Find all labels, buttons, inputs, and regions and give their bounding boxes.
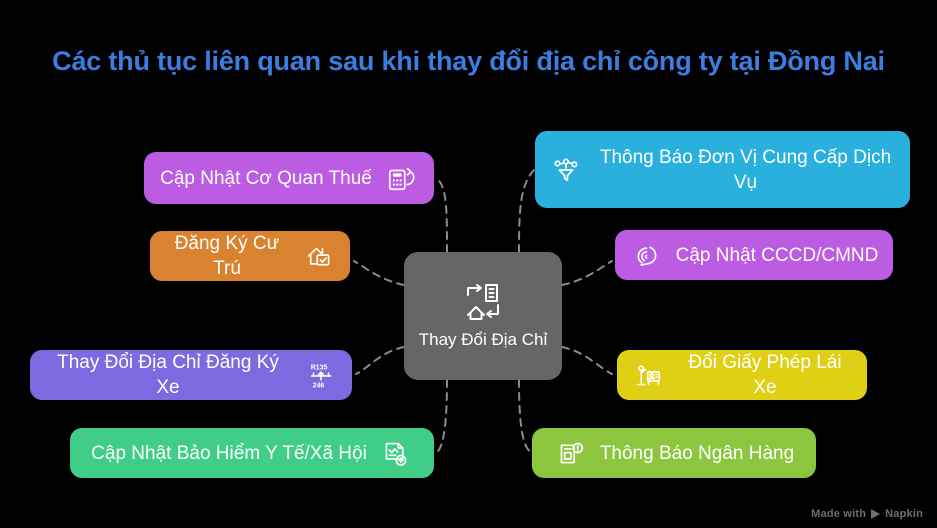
node-label: Cập Nhật Cơ Quan Thuế [160, 166, 372, 191]
bank-notice-icon [554, 436, 588, 470]
node-cap-nhat-bao-hiem-y-te-xa-hoi[interactable]: Cập Nhật Bảo Hiểm Y Tế/Xã Hội [70, 428, 434, 478]
napkin-watermark: Made with Napkin [811, 508, 923, 520]
node-label: Cập Nhật CCCD/CMND [676, 243, 879, 268]
node-label: Cập Nhật Bảo Hiểm Y Tế/Xã Hội [91, 441, 367, 466]
node-doi-giay-phep-lai-xe[interactable]: Đổi Giấy Phép Lái Xe [617, 350, 867, 400]
connector-to-cap-nhat-cccd [562, 261, 612, 285]
watermark-brand: Napkin [885, 508, 923, 520]
node-thong-bao-ngan-hang[interactable]: Thông Báo Ngân Hàng [532, 428, 816, 478]
page-title: Các thủ tục liên quan sau khi thay đổi đ… [0, 44, 937, 78]
connector-to-cap-nhat-co-quan-thue [436, 178, 447, 252]
watermark-text: Made with [811, 508, 866, 520]
connector-to-dang-ky-cu-tru [354, 261, 404, 285]
person-license-icon [631, 358, 665, 392]
node-cap-nhat-co-quan-thue[interactable]: Cập Nhật Cơ Quan Thuế [144, 152, 434, 204]
gear-shift-icon: R135 246 [304, 358, 338, 392]
connector-to-thong-bao-ngan-hang [519, 380, 532, 453]
hub-node-thay-doi-dia-chi[interactable]: Thay Đổi Địa Chỉ [404, 252, 562, 380]
node-label: Thay Đổi Địa Chỉ Đăng Ký Xe [44, 350, 292, 400]
house-check-icon [302, 239, 336, 273]
diagram-canvas: Các thủ tục liên quan sau khi thay đổi đ… [0, 0, 937, 528]
connector-to-thay-doi-dia-chi-dang-ky-xe [356, 347, 404, 374]
network-funnel-icon [549, 153, 583, 187]
address-change-icon [455, 281, 511, 325]
node-label: Thông Báo Đơn Vị Cung Cấp Dịch Vụ [595, 145, 896, 195]
svg-text:246: 246 [313, 383, 325, 390]
node-label: Thông Báo Ngân Hàng [600, 441, 794, 466]
connector-to-thong-bao-don-vi [519, 170, 534, 252]
connector-to-doi-giay-phep-lai-xe [562, 347, 612, 374]
node-thong-bao-don-vi-cung-cap-dich-vu[interactable]: Thông Báo Đơn Vị Cung Cấp Dịch Vụ [535, 131, 910, 208]
node-dang-ky-cu-tru[interactable]: Đăng Ký Cư Trú [150, 231, 350, 281]
calculator-refresh-icon [384, 161, 418, 195]
node-label: Đổi Giấy Phép Lái Xe [677, 350, 853, 400]
connector-to-cap-nhat-bao-hiem [436, 380, 447, 453]
document-plus-icon [379, 436, 413, 470]
play-triangle-icon [871, 509, 880, 519]
svg-text:R135: R135 [311, 364, 328, 371]
node-thay-doi-dia-chi-dang-ky-xe[interactable]: Thay Đổi Địa Chỉ Đăng Ký Xe R135 246 [30, 350, 352, 400]
hub-label: Thay Đổi Địa Chỉ [419, 329, 548, 351]
node-cap-nhat-cccd-cmnd[interactable]: Cập Nhật CCCD/CMND [615, 230, 893, 280]
node-label: Đăng Ký Cư Trú [164, 231, 290, 281]
fingerprint-hand-icon [630, 238, 664, 272]
